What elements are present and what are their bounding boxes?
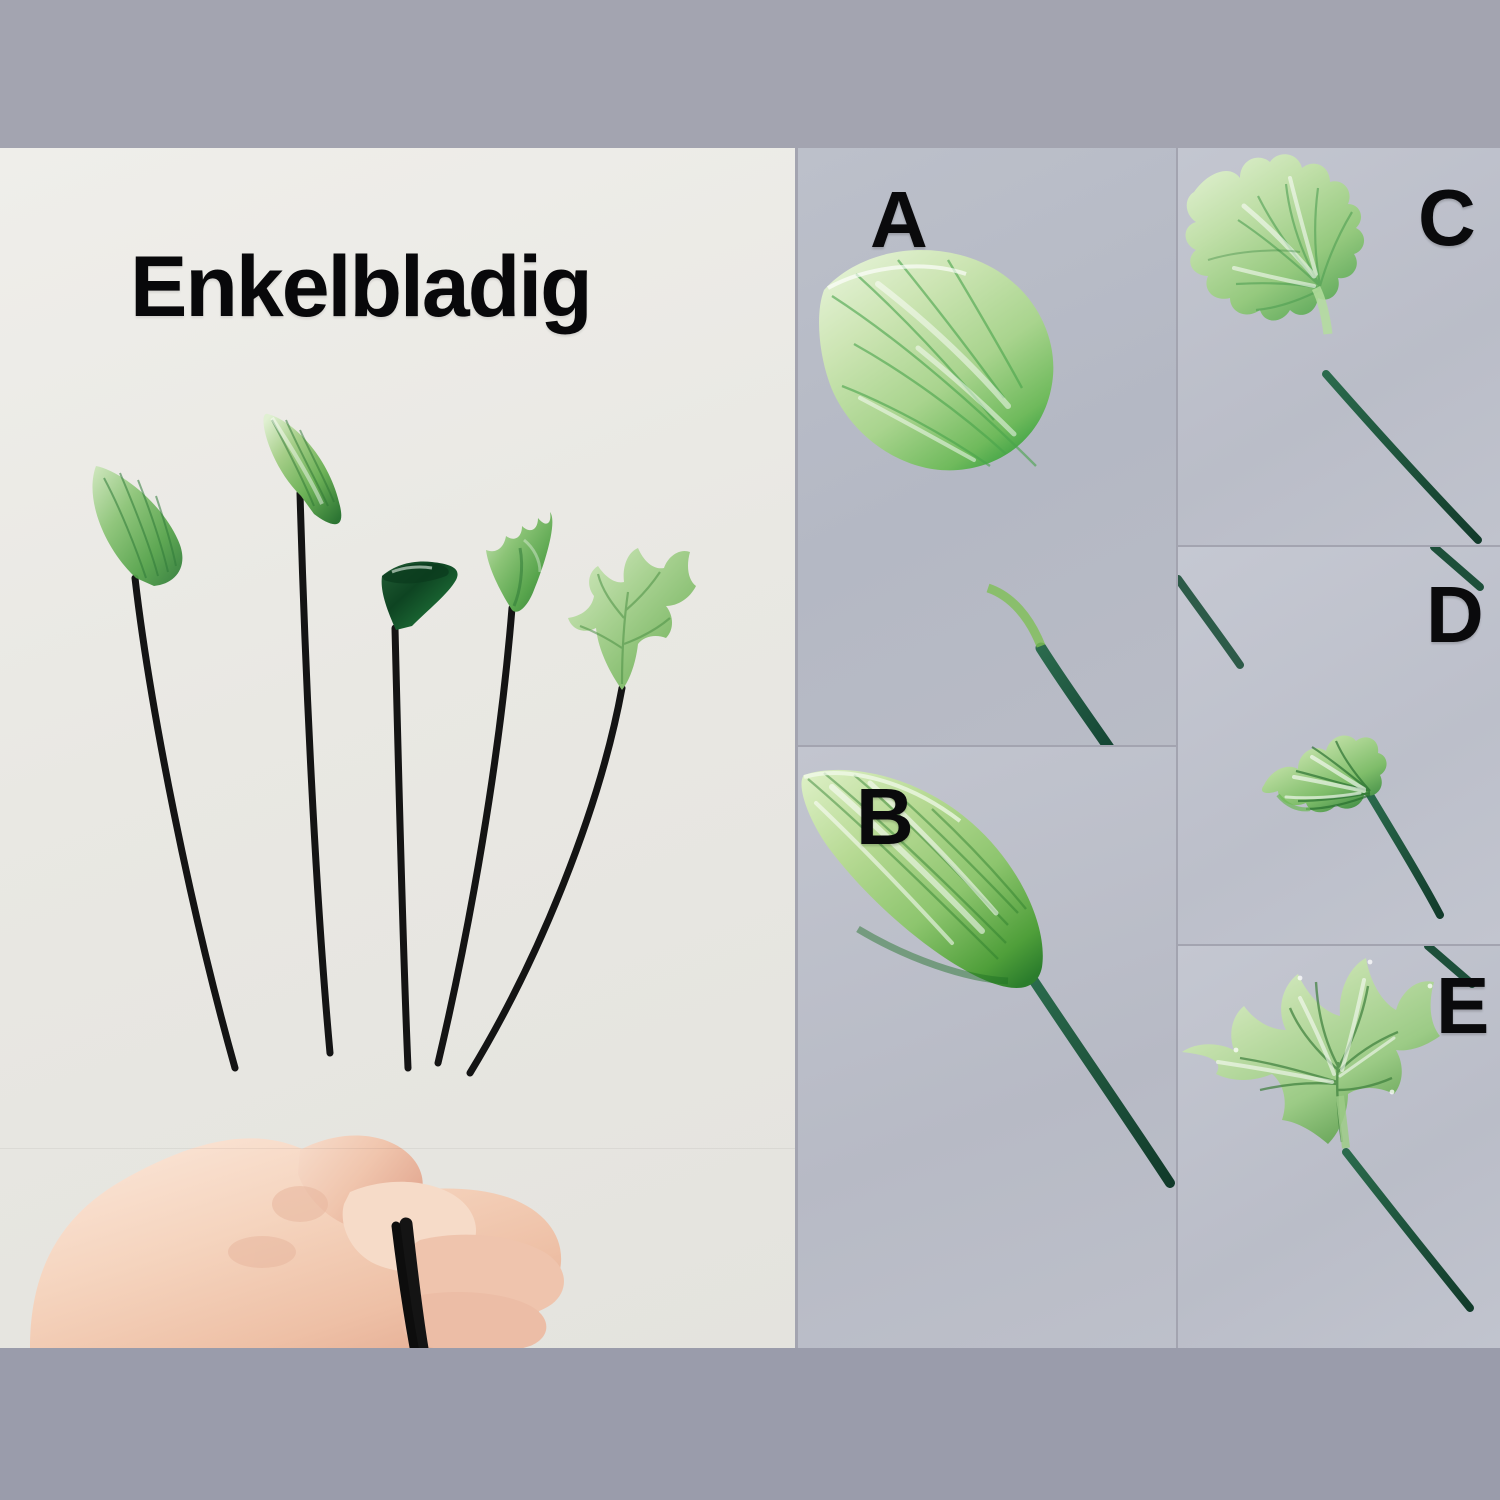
- panel-c[interactable]: C: [1178, 148, 1500, 545]
- panel-a-artwork: [798, 148, 1176, 745]
- panel-e[interactable]: E: [1178, 946, 1500, 1348]
- page-title: Enkelbladig: [130, 244, 591, 330]
- panel-label-e: E: [1436, 966, 1489, 1046]
- panel-a[interactable]: A: [798, 148, 1176, 745]
- panel-label-c: C: [1418, 178, 1476, 258]
- hero-photo: Enkelbladig: [0, 148, 795, 1348]
- panel-label-b: B: [856, 777, 914, 857]
- panel-label-a: A: [870, 180, 928, 260]
- panel-b-artwork: [798, 747, 1176, 1348]
- frame-bottom-band: [0, 1348, 1500, 1500]
- product-collage: Enkelbladig: [0, 0, 1500, 1500]
- panel-d[interactable]: D: [1178, 547, 1500, 944]
- panel-b[interactable]: B: [798, 747, 1176, 1348]
- panel-label-d: D: [1426, 575, 1484, 655]
- frame-top-band: [0, 0, 1500, 148]
